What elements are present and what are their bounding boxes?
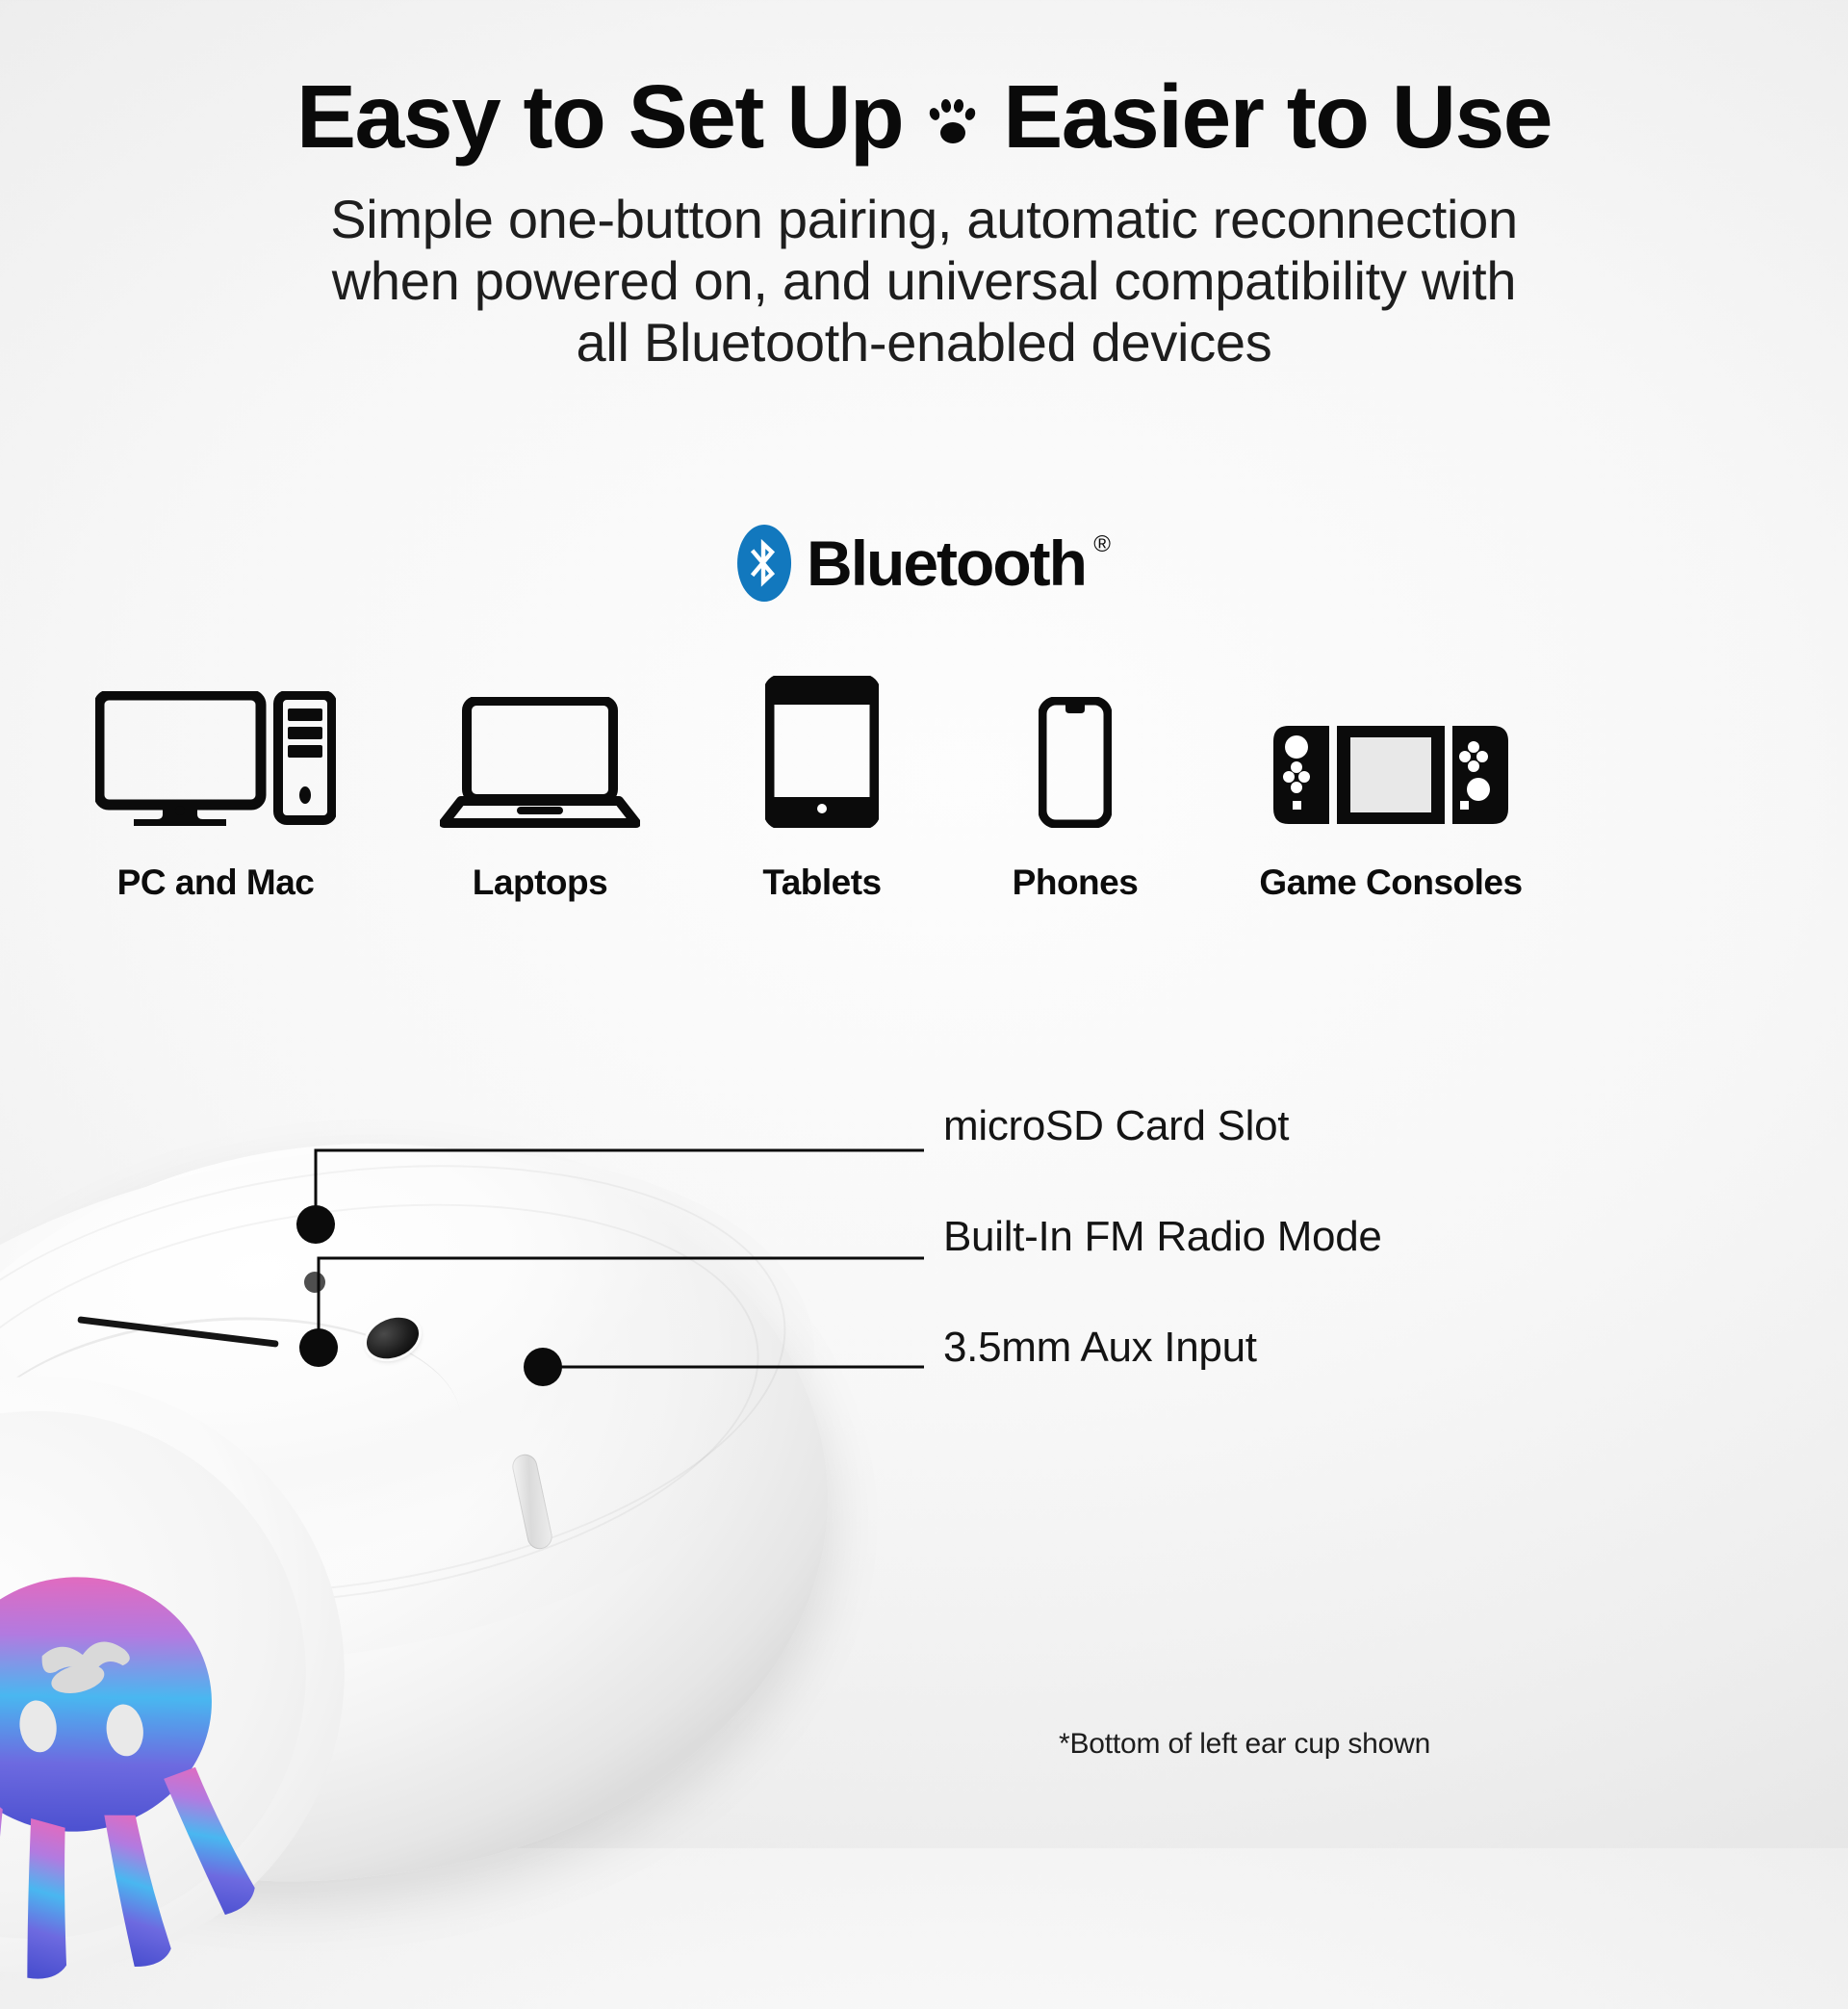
- footnote: *Bottom of left ear cup shown: [1059, 1728, 1430, 1761]
- callout-label-fm-radio: Built-In FM Radio Mode: [943, 1213, 1382, 1261]
- feature-callouts: microSD Card Slot Built-In FM Radio Mode…: [0, 0, 1848, 1848]
- callout-leader-lines: [0, 0, 1848, 1848]
- callout-label-microsd: microSD Card Slot: [943, 1102, 1289, 1150]
- callout-label-aux: 3.5mm Aux Input: [943, 1324, 1257, 1372]
